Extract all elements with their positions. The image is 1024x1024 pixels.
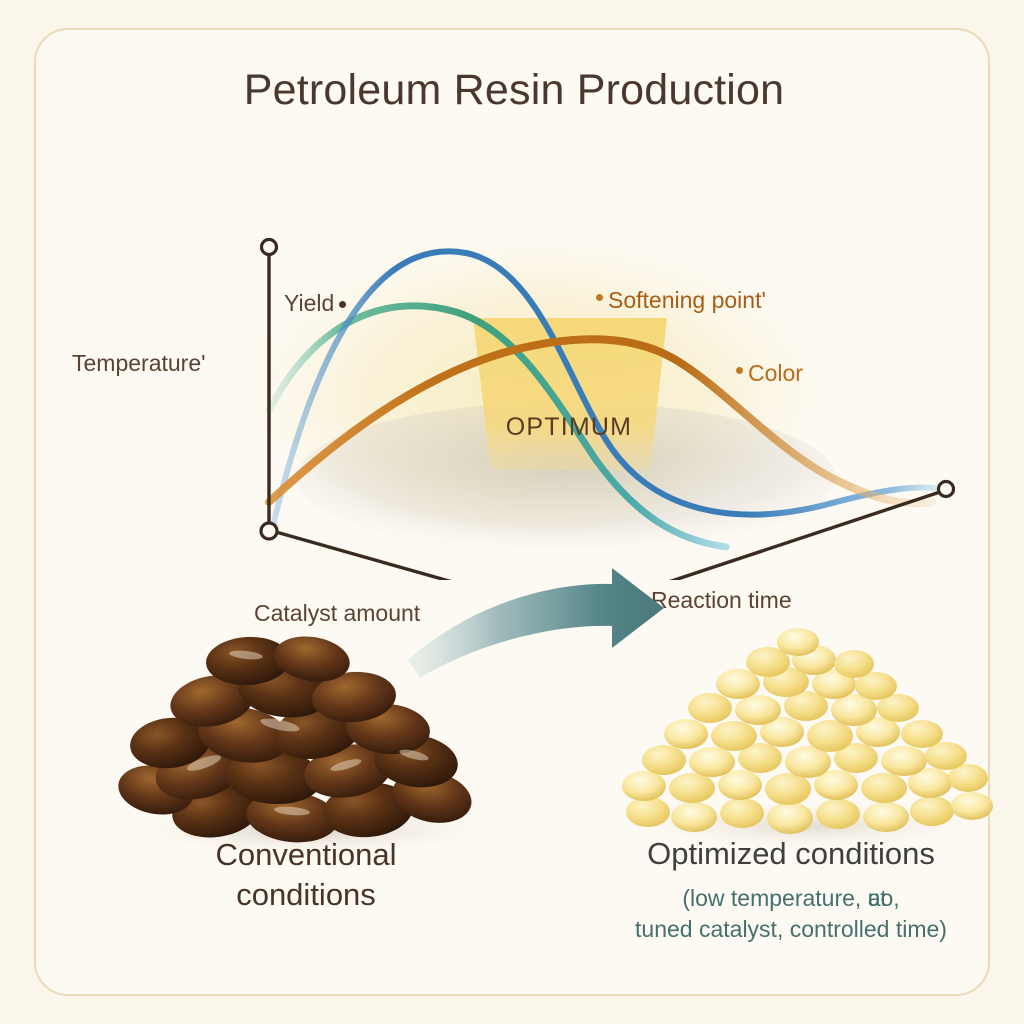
conventional-pellets-image [96, 625, 516, 855]
axis-label-temperature: Temperature' [72, 350, 206, 377]
optimized-caption: Optimized conditions (low temperature, a… [566, 835, 1016, 945]
dark-pellet-group [114, 631, 476, 846]
optimized-caption-sub-line1: (low temperature, aoʋt, [566, 883, 1016, 914]
page-title: Petroleum Resin Production [36, 66, 992, 115]
series-label-yield: Yield [284, 290, 346, 317]
yellow-pellet-group [622, 628, 993, 834]
yield-dot-icon [339, 301, 346, 308]
conventional-caption-line1: Conventional [116, 835, 496, 875]
axis-marker-top [262, 240, 277, 255]
optimized-caption-sub-line2: tuned catalyst, controlled time) [566, 914, 1016, 945]
axis-label-catalyst-amount: Catalyst amount [254, 600, 420, 627]
garbled-text-b: ʋt [868, 883, 887, 914]
conventional-caption-line2: conditions [116, 875, 496, 915]
conventional-caption: Conventional conditions [116, 835, 496, 914]
garbled-text: aoʋt [868, 883, 894, 914]
series-label-color: Color [736, 360, 803, 387]
sub-line1-suffix: , [893, 885, 899, 911]
optimized-caption-sub: (low temperature, aoʋt, tuned catalyst, … [566, 883, 1016, 945]
series-label-softening-point: Softening point' [596, 287, 766, 314]
series-label-yield-text: Yield [284, 290, 334, 316]
series-label-color-text: Color [748, 360, 803, 386]
chart-svg [36, 110, 992, 580]
optimized-caption-head: Optimized conditions [566, 835, 1016, 872]
process-optimization-chart: Temperature' Catalyst amount Reaction ti… [36, 110, 992, 580]
sub-line1-prefix: (low temperature, [682, 885, 867, 911]
optimum-band-label: OPTIMUM [474, 413, 664, 442]
softening-point-dot-icon [596, 294, 603, 301]
axis-marker-right [939, 482, 954, 497]
optimized-pellets-image [606, 620, 1006, 850]
infographic-canvas: Petroleum Resin Production [0, 0, 1024, 1024]
color-dot-icon [736, 367, 743, 374]
series-label-softening-point-text: Softening point' [608, 287, 766, 313]
axis-marker-origin [261, 523, 277, 539]
content-card: Petroleum Resin Production [34, 28, 990, 996]
